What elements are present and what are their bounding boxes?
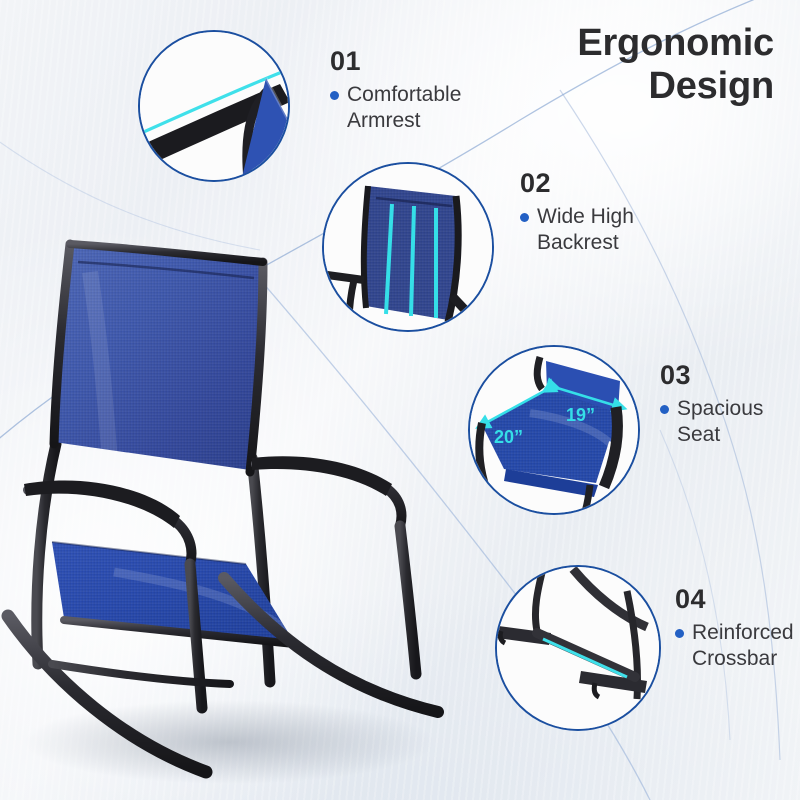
dimension-19-label: 19” — [566, 405, 595, 425]
backrest-detail-icon — [324, 164, 492, 330]
infographic-canvas: 01 Comfortable Armrest 02 — [0, 0, 800, 800]
feature-text-02: Wide High Backrest — [537, 204, 634, 255]
armrest-detail-icon — [140, 32, 288, 180]
feature-text-01: Comfortable Armrest — [347, 82, 461, 133]
feature-number-01: 01 — [330, 48, 461, 75]
title-line-2: Design — [649, 65, 775, 107]
seat-detail-icon: 20” 19” — [470, 347, 638, 513]
feature-label-04: 04 Reinforced Crossbar — [675, 586, 794, 671]
bullet-dot-icon — [330, 91, 339, 100]
feature-label-01: 01 Comfortable Armrest — [330, 48, 461, 133]
feature-label-02: 02 Wide High Backrest — [520, 170, 634, 255]
feature-circle-seat: 20” 19” — [468, 345, 640, 515]
page-title: Ergonomic Design — [474, 22, 774, 108]
feature-number-04: 04 — [675, 586, 794, 613]
crossbar-detail-icon — [497, 567, 659, 729]
title-line-1: Ergonomic — [577, 22, 774, 64]
feature-circle-backrest — [322, 162, 494, 332]
dimension-20-label: 20” — [494, 427, 523, 447]
feature-text-04: Reinforced Crossbar — [692, 620, 794, 671]
feature-label-03: 03 Spacious Seat — [660, 362, 763, 447]
feature-text-03: Spacious Seat — [677, 396, 763, 447]
bullet-dot-icon — [520, 213, 529, 222]
feature-number-02: 02 — [520, 170, 634, 197]
feature-number-03: 03 — [660, 362, 763, 389]
feature-circle-crossbar — [495, 565, 661, 731]
bullet-dot-icon — [675, 629, 684, 638]
bullet-dot-icon — [660, 405, 669, 414]
feature-circle-armrest — [138, 30, 290, 182]
